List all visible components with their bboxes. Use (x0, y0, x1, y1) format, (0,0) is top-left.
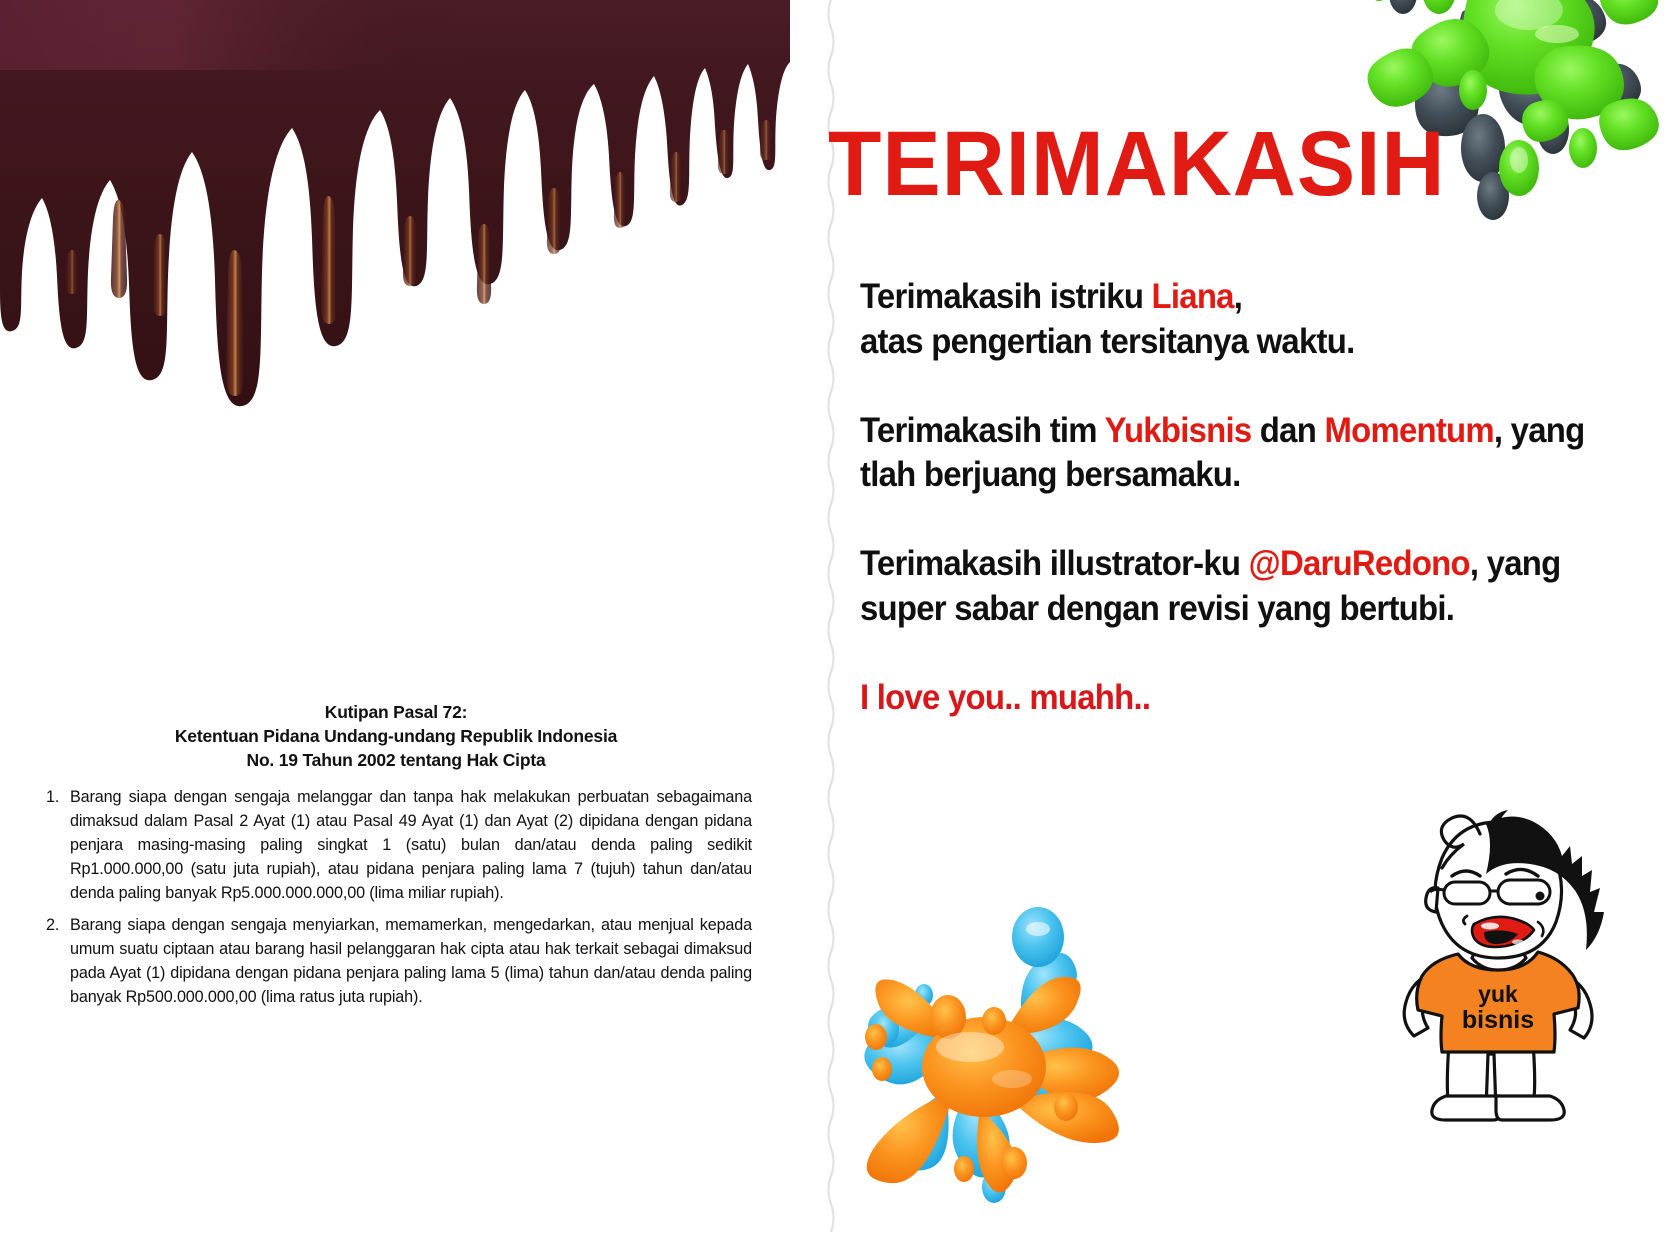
copyright-legal-notice: Kutipan Pasal 72: Ketentuan Pidana Undan… (40, 700, 752, 1019)
mascot-shirt-line-2: bisnis (1462, 1006, 1534, 1034)
legal-item-list: 1. Barang siapa dengan sengaja melanggar… (40, 786, 752, 1009)
highlight-yukbisnis: Yukbisnis (1105, 411, 1252, 450)
legal-item-text: Barang siapa dengan sengaja melanggar da… (70, 786, 752, 905)
text-segment: Terimakasih istriku (860, 277, 1152, 316)
legal-heading-line-3: No. 19 Tahun 2002 tentang Hak Cipta (40, 748, 752, 772)
paragraph-thanks-team: Terimakasih tim Yukbisnis dan Momentum, … (860, 409, 1612, 499)
highlight-daruredono: @DaruRedono (1249, 544, 1470, 583)
paragraph-thanks-illustrator: Terimakasih illustrator-ku @DaruRedono, … (860, 542, 1612, 632)
book-spread: Kutipan Pasal 72: Ketentuan Pidana Undan… (0, 0, 1667, 1250)
thanks-text-block: Terimakasih istriku Liana, atas pengerti… (860, 275, 1660, 765)
page-title: TERIMAKASIH (828, 112, 1445, 217)
mascot-shirt-line-1: yuk (1478, 981, 1518, 1007)
legal-item-number: 2. (40, 914, 70, 1009)
legal-item: 2. Barang siapa dengan sengaja menyiarka… (40, 914, 752, 1009)
text-segment: Terimakasih illustrator-ku (860, 544, 1249, 583)
paragraph-thanks-wife: Terimakasih istriku Liana, atas pengerti… (860, 275, 1612, 365)
yukbisnis-mascot-illustration: yuk bisnis (1338, 776, 1658, 1126)
highlight-momentum: Momentum (1324, 411, 1493, 450)
highlight-liana: Liana (1152, 277, 1234, 316)
legal-heading: Kutipan Pasal 72: Ketentuan Pidana Undan… (40, 700, 752, 772)
chocolate-drip-decoration (0, 0, 790, 420)
legal-item-number: 1. (40, 786, 70, 905)
orange-blue-paint-splash-icon (798, 895, 1168, 1225)
text-segment: , (1234, 277, 1242, 316)
legal-heading-line-2: Ketentuan Pidana Undang-undang Republik … (40, 724, 752, 748)
legal-item-text: Barang siapa dengan sengaja menyiarkan, … (70, 914, 752, 1009)
legal-heading-line-1: Kutipan Pasal 72: (40, 700, 752, 724)
text-segment: dan (1251, 411, 1324, 450)
text-segment: Terimakasih tim (860, 411, 1105, 450)
text-segment: atas pengertian tersitanya waktu. (860, 322, 1354, 361)
left-page: Kutipan Pasal 72: Ketentuan Pidana Undan… (0, 0, 830, 1250)
closing-line: I love you.. muahh.. (860, 676, 1612, 721)
legal-item: 1. Barang siapa dengan sengaja melanggar… (40, 786, 752, 905)
